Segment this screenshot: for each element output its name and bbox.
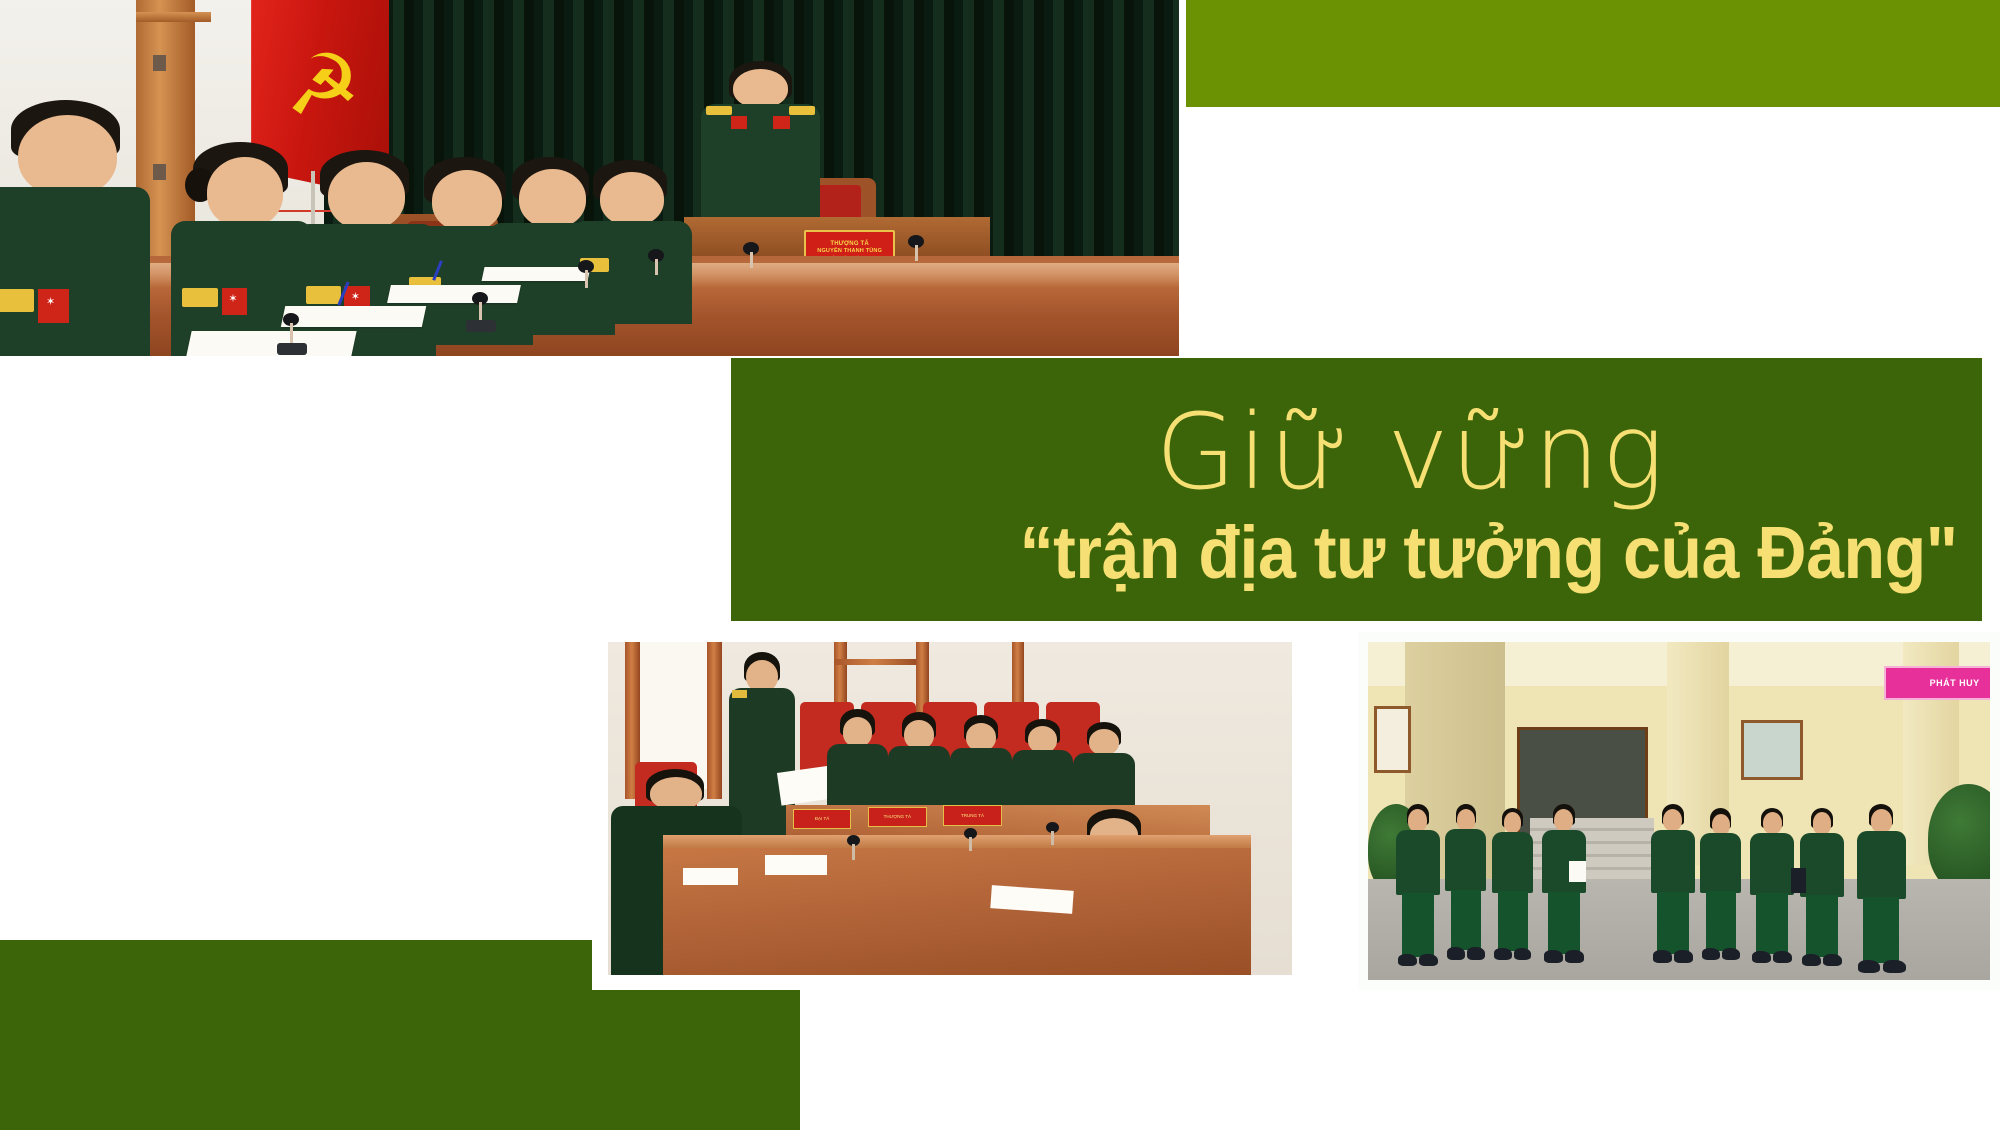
nameplate-name: NGUYỄN THANH TÙNG [817, 248, 882, 255]
title-line-two: “trận địa tư tưởng của Đảng" [1020, 516, 1958, 590]
right-o7-shoe-r [1773, 951, 1792, 963]
person1-rank-star: ✶ [46, 297, 55, 308]
right-o9-legs [1863, 897, 1899, 963]
middle-mic-stem-2 [969, 837, 972, 851]
photo-middle-meeting: ĐẠI TÁ THƯỢNG TÁ TRUNG TÁ [600, 634, 1300, 983]
person3-head [328, 162, 405, 230]
person1-epaulette [0, 289, 34, 312]
middle-e-head [1089, 729, 1119, 755]
bottom-left-accent-step [0, 940, 592, 992]
right-window-mid [1741, 720, 1803, 780]
right-o7-head [1763, 812, 1782, 834]
mic-stem-4 [655, 259, 658, 275]
middle-mic-stem-3 [1051, 831, 1054, 845]
person3-epaulette [306, 286, 341, 305]
right-o2-shoe-l [1447, 947, 1465, 959]
mic-stem-2 [479, 302, 482, 322]
middle-nameplate-2: THƯỢNG TÁ [868, 807, 927, 828]
middle-d-head [1028, 726, 1058, 753]
right-o7-torso [1750, 833, 1794, 895]
document-2 [281, 306, 427, 327]
right-officer-5 [1648, 804, 1698, 963]
title-line-one: Giữ vững [1156, 399, 1666, 505]
mic-stem-3 [585, 270, 588, 288]
top-right-accent-band [1186, 0, 2000, 107]
middle-frame-center-b [834, 659, 923, 665]
title-panel: Giữ vững “trận địa tư tưởng của Đảng" [731, 358, 1982, 621]
right-window-left [1374, 706, 1411, 773]
middle-mic-stem-1 [852, 844, 855, 860]
right-o6-legs [1706, 891, 1736, 950]
right-o6-torso [1700, 833, 1741, 892]
speaker-epaulette-right [789, 106, 815, 115]
right-o3-shoe-l [1494, 948, 1512, 960]
middle-standing-epaulette [732, 690, 747, 698]
speaker-collar-tab-right [773, 116, 790, 128]
right-o8-head [1813, 812, 1832, 834]
photo-right-outdoor: PHÁT HUY [1358, 632, 2000, 990]
right-o8-folder [1791, 868, 1806, 893]
door-hinge-lower [153, 164, 166, 180]
middle-person-seated-e [1073, 722, 1135, 815]
right-o8-legs [1806, 895, 1838, 957]
person-seated-6 [578, 160, 690, 324]
middle-c-head [966, 723, 996, 751]
right-o5-head [1663, 809, 1682, 831]
right-o7-shoe-l [1752, 951, 1771, 963]
right-o2-shoe-r [1467, 947, 1485, 959]
person2-head [207, 157, 283, 227]
right-officer-8 [1797, 808, 1847, 967]
right-bush-right [1928, 784, 2000, 892]
right-o5-shoe-l [1653, 950, 1672, 963]
person2-rank-star: ✶ [228, 294, 237, 305]
right-o3-torso [1492, 832, 1533, 893]
right-o4-shoe-r [1565, 950, 1584, 963]
right-o9-shoe-r [1883, 960, 1905, 974]
person4-head [432, 170, 503, 232]
document-3 [387, 285, 520, 303]
middle-person-seated-a [827, 709, 889, 816]
mic-stem-6 [915, 245, 918, 261]
person1-torso [0, 187, 150, 356]
right-officer-3 [1489, 808, 1536, 960]
poster-canvas: ☭ THƯỢNG TÁ NGUYỄN THA [0, 0, 2000, 1130]
middle-main-table [663, 835, 1251, 975]
right-o1-shoe-r [1419, 954, 1438, 967]
right-o9-shoe-l [1858, 960, 1880, 974]
door-hinge-upper [153, 55, 166, 71]
right-o6-shoe-l [1702, 948, 1720, 960]
speaker-epaulette-left [706, 106, 732, 115]
bottom-left-accent-block [0, 990, 800, 1130]
right-o3-head [1504, 812, 1522, 833]
right-officer-2 [1443, 804, 1490, 959]
right-o3-legs [1498, 891, 1528, 950]
right-o5-torso [1651, 830, 1695, 894]
right-o2-head [1457, 809, 1475, 831]
right-o5-shoe-r [1674, 950, 1693, 963]
middle-nameplate-1: ĐẠI TÁ [793, 809, 852, 830]
right-o8-shoe-l [1802, 954, 1821, 967]
right-o4-shoe-l [1544, 950, 1563, 963]
person-seated-1: ✶ [0, 100, 153, 356]
middle-b-head [904, 720, 934, 749]
right-o1-shoe-l [1398, 954, 1417, 967]
right-officer-7 [1747, 808, 1797, 963]
right-o6-shoe-r [1722, 948, 1740, 960]
speaker-collar-tab-left [731, 116, 748, 128]
right-officer-9 [1853, 804, 1909, 973]
middle-person-seated-d [1012, 719, 1074, 816]
photo-main-meeting: ☭ THƯỢNG TÁ NGUYỄN THA [0, 0, 1179, 356]
middle-nameplate-3: TRUNG TÁ [943, 805, 1002, 826]
middle-person-seated-c [950, 715, 1012, 815]
middle-person-seated-b [888, 712, 950, 815]
right-o8-shoe-r [1823, 954, 1842, 967]
right-officer-4 [1539, 804, 1589, 963]
middle-doc-on-table-3 [683, 868, 738, 885]
middle-table-edge [663, 835, 1251, 848]
person1-head [18, 115, 117, 197]
person6-head [600, 172, 664, 226]
hammer-sickle-icon: ☭ [285, 43, 351, 139]
document-4 [482, 267, 591, 281]
right-officer-1 [1393, 804, 1443, 966]
right-o4-legs [1548, 892, 1580, 954]
right-pink-banner: PHÁT HUY [1884, 666, 2000, 700]
mic-base-2 [466, 320, 496, 332]
right-o9-head [1871, 809, 1892, 833]
right-o9-torso [1857, 831, 1906, 899]
middle-fl-head [650, 777, 702, 810]
middle-a-head [843, 717, 873, 747]
person5-head [519, 169, 586, 228]
speaker-head [733, 69, 787, 108]
mic-stem-5 [750, 252, 753, 268]
document-1 [186, 331, 356, 356]
right-officer-6 [1698, 808, 1745, 960]
right-o5-legs [1657, 892, 1689, 954]
right-o1-legs [1402, 893, 1434, 956]
right-o3-shoe-r [1514, 948, 1532, 960]
middle-doc-on-table-1 [765, 855, 827, 875]
right-o1-torso [1396, 830, 1440, 895]
person2-epaulette [182, 288, 217, 307]
door-crossbar [136, 12, 211, 21]
person3-rank-star: ✶ [351, 292, 360, 303]
right-o1-head [1408, 809, 1427, 832]
right-o7-legs [1756, 893, 1788, 954]
right-o2-legs [1451, 890, 1481, 951]
middle-standing-head [746, 660, 778, 692]
nameplate-rank: THƯỢNG TÁ [830, 241, 869, 249]
right-o2-torso [1445, 829, 1486, 891]
mic-base-1 [277, 343, 307, 355]
mic-stem-1 [290, 323, 293, 345]
right-o4-head [1554, 809, 1573, 831]
right-o8-torso [1800, 833, 1844, 897]
right-o4-paper [1569, 861, 1586, 882]
right-o6-head [1712, 814, 1730, 835]
